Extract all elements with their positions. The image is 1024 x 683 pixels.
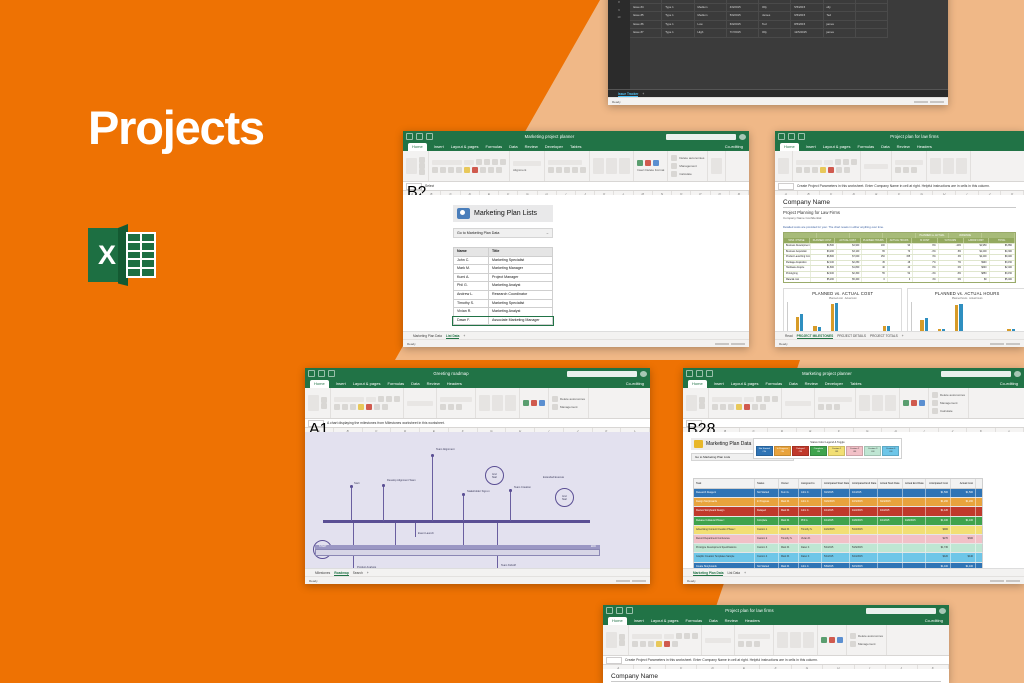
font-size-select[interactable]: [464, 160, 474, 165]
formula-bar[interactable]: A1 A chart displaying the milestones fro…: [305, 419, 650, 428]
sheet-tab[interactable]: Roadmap: [334, 571, 349, 576]
ribbon[interactable]: Delete autonomies Management Calculate: [683, 388, 1024, 419]
tab-layout[interactable]: Layout & pages: [651, 617, 679, 625]
increase-font-icon[interactable]: [676, 633, 682, 639]
table-row[interactable]: Kumi A.Project Manager: [453, 274, 553, 283]
table-row[interactable]: Prototyping$2,400 $2,30055 52-4% -5%$850…: [784, 271, 1015, 277]
tab-formulas[interactable]: Formulas: [766, 380, 783, 388]
sheet-tab[interactable]: List Data: [446, 334, 459, 339]
percent-icon[interactable]: [448, 404, 454, 410]
ribbon-group-number[interactable]: [815, 388, 856, 418]
table-row[interactable]: Business Acquisition$3,200 $3,10065 70-3…: [784, 249, 1015, 255]
bold-icon[interactable]: [712, 404, 718, 410]
table-style-button[interactable]: [864, 164, 888, 169]
paste-icon[interactable]: [606, 632, 617, 648]
tab-home[interactable]: Home: [310, 380, 329, 388]
copy-icon[interactable]: [619, 640, 625, 646]
tab-layout[interactable]: Layout & pages: [823, 143, 851, 151]
people-table[interactable]: Name Title John C.Marketing Specialist M…: [453, 247, 553, 325]
search-input[interactable]: [866, 608, 936, 614]
status-legend[interactable]: Status Color Legend & Toggle Not Started…: [753, 438, 902, 459]
sheet-tab[interactable]: List Data: [727, 571, 740, 575]
add-sheet-button[interactable]: +: [744, 571, 746, 575]
table-row[interactable]: Review Storyboard DesignDelayed Mark M.J…: [693, 507, 983, 516]
align-right-icon[interactable]: [496, 167, 502, 173]
ribbon-group-font[interactable]: [331, 388, 404, 418]
redo-icon[interactable]: [798, 133, 805, 140]
tab-data[interactable]: Data: [709, 617, 717, 625]
legend-chip[interactable]: Custom 4ON: [882, 446, 899, 457]
font-size-select[interactable]: [366, 397, 376, 402]
italic-icon[interactable]: [804, 167, 810, 173]
name-box[interactable]: B2: [406, 183, 422, 190]
ribbon-group-alignment[interactable]: [782, 388, 815, 418]
insert-cells-icon[interactable]: [821, 637, 827, 643]
tab-home[interactable]: Home: [688, 380, 707, 388]
underline-icon[interactable]: [350, 404, 356, 410]
conditional-formatting-icon[interactable]: [593, 158, 604, 174]
autosum-icon[interactable]: [552, 396, 558, 402]
redo-icon[interactable]: [706, 370, 713, 377]
window-issue-tracker[interactable]: Issue tracker Home Insert Layout & pages…: [608, 0, 948, 105]
conditional-formatting-icon[interactable]: [930, 158, 941, 174]
window-marketing-project-planner[interactable]: Marketing project planner Home Insert La…: [683, 368, 1024, 584]
fill-color-icon[interactable]: [358, 404, 364, 410]
table-row[interactable]: Phil G.Marketing Analyst: [453, 282, 553, 291]
delete-cells-icon[interactable]: [531, 400, 537, 406]
align-left-icon[interactable]: [374, 404, 380, 410]
fill-icon[interactable]: [932, 400, 938, 406]
ribbon-group-clipboard[interactable]: [683, 388, 709, 418]
font-color-icon[interactable]: [664, 641, 670, 647]
project-totals-table[interactable]: PLANNED vs. ACTUAL VARIANCE TASK / PHASE…: [783, 232, 1016, 283]
align-center-icon[interactable]: [844, 167, 850, 173]
legend-chip[interactable]: In ProgressON: [774, 446, 791, 457]
font-name-select[interactable]: [712, 397, 742, 402]
tab-headers[interactable]: Headers: [745, 617, 760, 625]
tab-formulas[interactable]: Formulas: [686, 617, 703, 625]
tab-review[interactable]: Review: [725, 617, 738, 625]
ribbon-group-number[interactable]: [545, 151, 590, 181]
tab-data[interactable]: Data: [789, 380, 797, 388]
name-box[interactable]: [606, 657, 622, 664]
ribbon-tabs[interactable]: Home Insert Layout & pages Formulas Data…: [683, 379, 1024, 388]
ribbon-group-clipboard[interactable]: [403, 151, 429, 181]
account-avatar[interactable]: [1014, 371, 1021, 377]
bold-icon[interactable]: [796, 167, 802, 173]
insert-cells-icon[interactable]: [637, 160, 643, 166]
tab-review[interactable]: Review: [897, 143, 910, 151]
ribbon-group-cells[interactable]: [900, 388, 929, 418]
table-style-button[interactable]: [785, 401, 811, 406]
number-format-select[interactable]: [895, 160, 923, 165]
save-icon[interactable]: [686, 370, 693, 377]
align-left-icon[interactable]: [836, 167, 842, 173]
table-row[interactable]: Issue #6Type 1 Low6/9/2015 Ted8/5/2015 j…: [630, 21, 888, 30]
ribbon-group-clipboard[interactable]: [775, 151, 793, 181]
table-row[interactable]: Graphic Creation Templates SampleCustom …: [693, 553, 983, 562]
table-row[interactable]: Vivian R.Marketing Analyst: [453, 308, 553, 317]
font-size-select[interactable]: [824, 160, 833, 165]
decrease-font-icon[interactable]: [843, 159, 849, 165]
fill-icon[interactable]: [850, 641, 856, 647]
font-color-icon[interactable]: [472, 167, 478, 173]
increase-decimal-icon[interactable]: [572, 167, 578, 173]
delete-cells-icon[interactable]: [829, 637, 835, 643]
save-icon[interactable]: [406, 133, 413, 140]
increase-font-icon[interactable]: [756, 396, 762, 402]
merge-icon[interactable]: [500, 159, 506, 165]
align-center-icon[interactable]: [488, 167, 494, 173]
align-center-icon[interactable]: [382, 404, 388, 410]
ribbon-group-font[interactable]: [709, 388, 782, 418]
wrap-text-icon[interactable]: [692, 633, 698, 639]
bold-icon[interactable]: [632, 641, 638, 647]
table-row[interactable]: Prototype Development SpecificationsCust…: [693, 544, 983, 553]
zoom-control[interactable]: [914, 101, 944, 103]
roadmap-range-slider[interactable]: START END: [315, 545, 600, 554]
fill-icon[interactable]: [671, 163, 677, 169]
name-box[interactable]: A1: [308, 420, 324, 427]
window-project-plan-law-firm[interactable]: Project plan for law firms Home Insert L…: [775, 131, 1024, 347]
fill-icon[interactable]: [552, 404, 558, 410]
format-cells-icon[interactable]: [837, 637, 843, 643]
wrap-text-icon[interactable]: [772, 396, 778, 402]
share-button[interactable]: Co-editing: [626, 380, 650, 388]
format-painter-icon[interactable]: [419, 169, 425, 175]
ribbon[interactable]: Delete autonomies Management: [305, 388, 650, 419]
addins-icon[interactable]: [711, 158, 722, 174]
tab-developer[interactable]: Developer: [825, 380, 843, 388]
align-left-icon[interactable]: [480, 167, 486, 173]
table-row[interactable]: Package Acquisition$2,100 $2,25045 487% …: [784, 260, 1015, 266]
ribbon-group-cells[interactable]: Insert Delete Format: [634, 151, 668, 181]
redo-icon[interactable]: [426, 133, 433, 140]
tab-insert[interactable]: Insert: [634, 617, 644, 625]
save-icon[interactable]: [778, 133, 785, 140]
legend-chip[interactable]: Custom 2ON: [846, 446, 863, 457]
currency-icon[interactable]: [548, 167, 554, 173]
formula-bar[interactable]: Create Project Parameters in this worksh…: [603, 656, 949, 665]
ribbon-group-editing[interactable]: Delete autonomies Management Calculate: [929, 388, 969, 418]
undo-icon[interactable]: [616, 607, 623, 614]
ribbon-group-font[interactable]: [429, 151, 510, 181]
number-format-select[interactable]: [440, 397, 472, 402]
tab-headers[interactable]: Headers: [447, 380, 462, 388]
legend-chip[interactable]: Custom 1ON: [828, 446, 845, 457]
paste-icon[interactable]: [686, 395, 697, 411]
decrease-font-icon[interactable]: [484, 159, 490, 165]
decrease-font-icon[interactable]: [684, 633, 690, 639]
fill-color-icon[interactable]: [820, 167, 826, 173]
align-left-icon[interactable]: [752, 404, 758, 410]
name-box[interactable]: B28: [686, 420, 702, 427]
ribbon-group-clipboard[interactable]: [603, 625, 629, 655]
ribbon[interactable]: Delete autonomies Management: [603, 625, 949, 656]
table-style-button[interactable]: [407, 401, 433, 406]
account-avatar[interactable]: [739, 134, 746, 140]
account-avatar[interactable]: [939, 608, 946, 614]
percent-icon[interactable]: [746, 641, 752, 647]
ribbon-group-styles[interactable]: [861, 151, 892, 181]
format-as-table-icon[interactable]: [606, 158, 617, 174]
format-as-table-icon[interactable]: [872, 395, 883, 411]
redo-icon[interactable]: [626, 607, 633, 614]
legend-chip[interactable]: Custom 3ON: [864, 446, 881, 457]
table-style-button[interactable]: [513, 161, 541, 166]
undo-icon[interactable]: [318, 370, 325, 377]
window-roadmap[interactable]: Greeting roadmap Home Insert Layout & pa…: [305, 368, 650, 584]
tab-home[interactable]: Home: [608, 617, 627, 625]
ribbon-tabs[interactable]: Home Insert Layout & pages Formulas Data…: [403, 142, 749, 151]
tab-home[interactable]: Home: [408, 143, 427, 151]
wrap-text-icon[interactable]: [492, 159, 498, 165]
formula-input[interactable]: Select: [425, 184, 434, 188]
ribbon[interactable]: [775, 151, 1024, 182]
fill-color-icon[interactable]: [464, 167, 470, 173]
copy-icon[interactable]: [699, 403, 705, 409]
delete-cells-icon[interactable]: [911, 400, 917, 406]
table-row[interactable]: Release Collateral Phase IComplete Mark …: [693, 517, 983, 526]
delete-cells-icon[interactable]: [645, 160, 651, 166]
table-row[interactable]: Issue #5Type 1 Medium5/9/2015 James6/5/2…: [630, 12, 888, 21]
ribbon-group-styles[interactable]: [774, 625, 818, 655]
ribbon-group-alignment[interactable]: [404, 388, 437, 418]
table-row[interactable]: Business Development$4,500 $4,900100 909…: [784, 243, 1015, 249]
zoom-control[interactable]: [990, 343, 1020, 345]
ribbon-group-addins[interactable]: [708, 151, 726, 181]
conditional-formatting-icon[interactable]: [777, 632, 788, 648]
ribbon-group-cells[interactable]: [927, 151, 971, 181]
legend-chips[interactable]: Not StartedON In ProgressON DelayedON Co…: [756, 446, 899, 457]
align-center-icon[interactable]: [760, 404, 766, 410]
tab-data[interactable]: Data: [881, 143, 889, 151]
underline-icon[interactable]: [728, 404, 734, 410]
ribbon-group-editing[interactable]: Delete autonomies Management: [549, 388, 589, 418]
ribbon-group-number[interactable]: [735, 625, 774, 655]
font-color-icon[interactable]: [744, 404, 750, 410]
table-row[interactable]: Material cost$5,200 $5,4000 04% 0%$0 $5,…: [784, 277, 1015, 283]
sheet-tab[interactable]: PROJECT MILESTONES: [797, 334, 834, 339]
tab-tables[interactable]: Tables: [850, 380, 862, 388]
autosum-icon[interactable]: [932, 392, 938, 398]
window-marketing-plan-lists[interactable]: Marketing project planner Home Insert La…: [403, 131, 749, 347]
format-as-table-icon[interactable]: [492, 395, 503, 411]
font-color-icon[interactable]: [366, 404, 372, 410]
search-input[interactable]: [941, 371, 1011, 377]
table-row[interactable]: John C.Marketing Specialist: [453, 257, 553, 266]
decrease-font-icon[interactable]: [764, 396, 770, 402]
table-row[interactable]: Dawn F.Associate Marketing Manager: [453, 317, 553, 326]
clear-icon[interactable]: [671, 171, 677, 177]
ribbon-group-styles[interactable]: [856, 388, 900, 418]
account-avatar[interactable]: [640, 371, 647, 377]
range-slider-track[interactable]: [315, 549, 600, 556]
cell-styles-icon[interactable]: [956, 158, 967, 174]
add-sheet-button[interactable]: +: [463, 334, 465, 338]
tab-formulas[interactable]: Formulas: [858, 143, 875, 151]
table-row[interactable]: Issue #4Type 1 Medium4/9/2015 Olly5/5/20…: [630, 4, 888, 13]
italic-icon[interactable]: [440, 167, 446, 173]
search-input[interactable]: [666, 134, 736, 140]
cell-styles-icon[interactable]: [885, 395, 896, 411]
format-cells-icon[interactable]: [653, 160, 659, 166]
table-row[interactable]: Advertising Content Creation Phase ICust…: [693, 526, 983, 535]
autosum-icon[interactable]: [850, 633, 856, 639]
tab-insert[interactable]: Insert: [806, 143, 816, 151]
ribbon-group-font[interactable]: [629, 625, 702, 655]
sheet-tab[interactable]: Issue Tracker: [618, 92, 638, 97]
formula-bar[interactable]: B2 Select: [403, 182, 749, 191]
table-row[interactable]: Hardware Acquire$1,800 $1,80040 400% 0%$…: [784, 265, 1015, 271]
ribbon-group-editing[interactable]: Delete autonomies Management: [847, 625, 887, 655]
increase-font-icon[interactable]: [378, 396, 384, 402]
window-project-plan-law-firm-bottom[interactable]: Project plan for law firms Home Insert L…: [603, 605, 949, 683]
legend-chip[interactable]: CompleteON: [810, 446, 827, 457]
ribbon-group-cells[interactable]: [818, 625, 847, 655]
copy-icon[interactable]: [321, 403, 327, 409]
comma-icon[interactable]: [754, 641, 760, 647]
search-input[interactable]: [567, 371, 637, 377]
sheet-tab[interactable]: Search: [353, 571, 363, 575]
ribbon-group-number[interactable]: [437, 388, 476, 418]
decrease-font-icon[interactable]: [386, 396, 392, 402]
fill-color-icon[interactable]: [656, 641, 662, 647]
decrease-decimal-icon[interactable]: [580, 167, 586, 173]
share-button[interactable]: Co-editing: [925, 617, 949, 625]
format-cells-icon[interactable]: [539, 400, 545, 406]
comma-icon[interactable]: [456, 404, 462, 410]
ribbon-group-styles[interactable]: [590, 151, 634, 181]
insert-cells-icon[interactable]: [903, 400, 909, 406]
tab-developer[interactable]: Developer: [545, 143, 563, 151]
wrap-text-icon[interactable]: [851, 159, 857, 165]
redo-icon[interactable]: [328, 370, 335, 377]
save-icon[interactable]: [606, 607, 613, 614]
increase-font-icon[interactable]: [476, 159, 482, 165]
formula-input[interactable]: Create Project Parameters in this worksh…: [797, 184, 990, 188]
tab-layout[interactable]: Layout & pages: [731, 380, 759, 388]
issue-table[interactable]: ISSUE TYPE PRIORITY OPENED ON OPENED BY …: [630, 0, 888, 91]
sheet-tab[interactable]: Milestones: [315, 571, 330, 575]
ribbon-tabs[interactable]: Home Insert Layout & pages Formulas Data…: [775, 142, 1024, 151]
percent-icon[interactable]: [903, 167, 909, 173]
bold-icon[interactable]: [334, 404, 340, 410]
underline-icon[interactable]: [812, 167, 818, 173]
tab-insert[interactable]: Insert: [714, 380, 724, 388]
table-row[interactable]: Design StoryboardsIn Progress Mark M.Joh…: [693, 498, 983, 507]
currency-icon[interactable]: [818, 404, 824, 410]
font-name-select[interactable]: [632, 634, 662, 639]
table-row[interactable]: Product Launching Conference$6,800 $7,00…: [784, 254, 1015, 260]
paste-icon[interactable]: [308, 395, 319, 411]
percent-icon[interactable]: [556, 167, 562, 173]
tab-review[interactable]: Review: [427, 380, 440, 388]
cell-styles-icon[interactable]: [619, 158, 630, 174]
number-format-select[interactable]: [548, 160, 582, 165]
tab-headers[interactable]: Headers: [917, 143, 932, 151]
tab-review[interactable]: Review: [525, 143, 538, 151]
zoom-control[interactable]: [715, 343, 745, 345]
font-name-select[interactable]: [334, 397, 364, 402]
number-format-select[interactable]: [738, 634, 770, 639]
clear-icon[interactable]: [932, 408, 938, 414]
underline-icon[interactable]: [648, 641, 654, 647]
tab-formulas[interactable]: Formulas: [388, 380, 405, 388]
border-icon[interactable]: [456, 167, 462, 173]
save-icon[interactable]: [308, 370, 315, 377]
paste-icon[interactable]: [778, 158, 789, 174]
sheet-tab[interactable]: Read: [785, 334, 793, 338]
formula-input[interactable]: A chart displaying the milestones from M…: [327, 421, 445, 425]
comma-icon[interactable]: [564, 167, 570, 173]
sheet-tab[interactable]: Marketing Plan Data: [693, 571, 723, 576]
wrap-text-icon[interactable]: [394, 396, 400, 402]
align-left-icon[interactable]: [672, 641, 678, 647]
paste-icon[interactable]: [406, 158, 417, 174]
tab-home[interactable]: Home: [780, 143, 799, 151]
table-row[interactable]: Mark M.Marketing Manager: [453, 265, 553, 274]
table-style-button[interactable]: [705, 638, 731, 643]
table-row[interactable]: Research ReagentNot Started Kumi A.John …: [693, 489, 983, 498]
formula-bar[interactable]: Create Project Parameters in this worksh…: [775, 182, 1024, 191]
undo-icon[interactable]: [416, 133, 423, 140]
italic-icon[interactable]: [720, 404, 726, 410]
format-as-table-icon[interactable]: [790, 632, 801, 648]
table-row[interactable]: Issue #7Type 1 High7/7/2015 Olly12/5/201…: [630, 29, 888, 38]
ribbon-group-alignment[interactable]: Alignment: [510, 151, 545, 181]
font-color-icon[interactable]: [828, 167, 834, 173]
bold-icon[interactable]: [432, 167, 438, 173]
sheet-tab[interactable]: PROJECT TOTALS: [870, 334, 898, 338]
formula-input[interactable]: Create Project Parameters in this worksh…: [625, 658, 818, 662]
underline-icon[interactable]: [448, 167, 454, 173]
ribbon-group-styles[interactable]: [476, 388, 520, 418]
format-cells-icon[interactable]: [919, 400, 925, 406]
tab-tables[interactable]: Tables: [570, 143, 582, 151]
insert-cells-icon[interactable]: [523, 400, 529, 406]
format-as-table-icon[interactable]: [943, 158, 954, 174]
tab-formulas[interactable]: Formulas: [486, 143, 503, 151]
font-name-select[interactable]: [432, 160, 462, 165]
ribbon-group-cells[interactable]: [520, 388, 549, 418]
currency-icon[interactable]: [895, 167, 901, 173]
font-size-select[interactable]: [744, 397, 754, 402]
share-button[interactable]: Co-editing: [1000, 380, 1024, 388]
zoom-control[interactable]: [990, 580, 1020, 582]
table-row[interactable]: Andrew L.Research Coordinator: [453, 291, 553, 300]
sheet-tab[interactable]: Marketing Plan Data: [413, 334, 442, 338]
increase-font-icon[interactable]: [835, 159, 841, 165]
add-sheet-button[interactable]: +: [902, 334, 904, 338]
tab-data[interactable]: Data: [509, 143, 517, 151]
go-to-marketing-plan-data-link[interactable]: Go to Marketing Plan Data →: [453, 228, 553, 238]
table-row[interactable]: Record Department ConferenceCustom 2 Tim…: [693, 535, 983, 544]
tab-insert[interactable]: Insert: [336, 380, 346, 388]
undo-icon[interactable]: [696, 370, 703, 377]
fill-color-icon[interactable]: [736, 404, 742, 410]
ribbon-group-number[interactable]: [892, 151, 927, 181]
legend-chip[interactable]: DelayedON: [792, 446, 809, 457]
font-size-select[interactable]: [664, 634, 674, 639]
currency-icon[interactable]: [738, 641, 744, 647]
tab-review[interactable]: Review: [805, 380, 818, 388]
legend-chip[interactable]: Not StartedON: [756, 446, 773, 457]
currency-icon[interactable]: [440, 404, 446, 410]
tab-insert[interactable]: Insert: [434, 143, 444, 151]
italic-icon[interactable]: [640, 641, 646, 647]
zoom-control[interactable]: [616, 580, 646, 582]
